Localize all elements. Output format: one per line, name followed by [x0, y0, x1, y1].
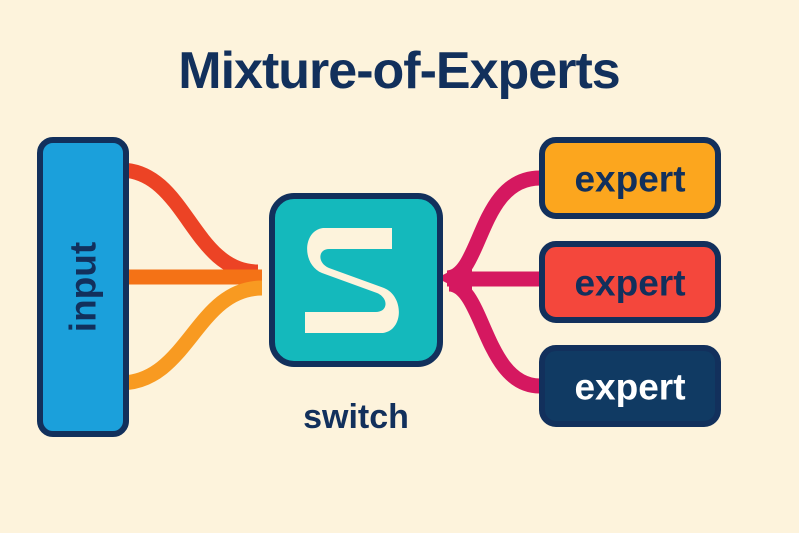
switch-caption-label: switch [303, 398, 409, 436]
expert-3-label: expert [574, 367, 685, 408]
node-expert-3[interactable]: expert [542, 348, 718, 424]
input-label: input [63, 242, 104, 332]
diagram-canvas: Mixture-of-Experts input switch [0, 0, 799, 533]
node-input[interactable]: input [40, 140, 126, 434]
mixture-of-experts-diagram: Mixture-of-Experts input switch [0, 0, 799, 533]
page-title: Mixture-of-Experts [178, 42, 619, 100]
node-expert-1[interactable]: expert [542, 140, 718, 216]
expert-1-label: expert [574, 159, 685, 200]
expert-2-label: expert [574, 263, 685, 304]
node-expert-2[interactable]: expert [542, 244, 718, 320]
